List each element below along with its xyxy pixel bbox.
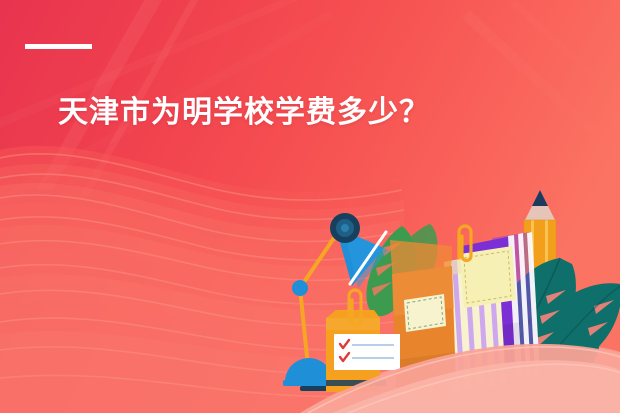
headline-block: 天津市为明学校学费多少？: [25, 44, 495, 132]
clipboard-card: [334, 334, 400, 370]
sticky-note: [460, 246, 516, 308]
lamp-joint: [292, 280, 308, 296]
decorative-rule: [25, 44, 92, 49]
page-title: 天津市为明学校学费多少？: [58, 94, 495, 132]
promo-banner: 天津市为明学校学费多少？: [0, 0, 620, 413]
